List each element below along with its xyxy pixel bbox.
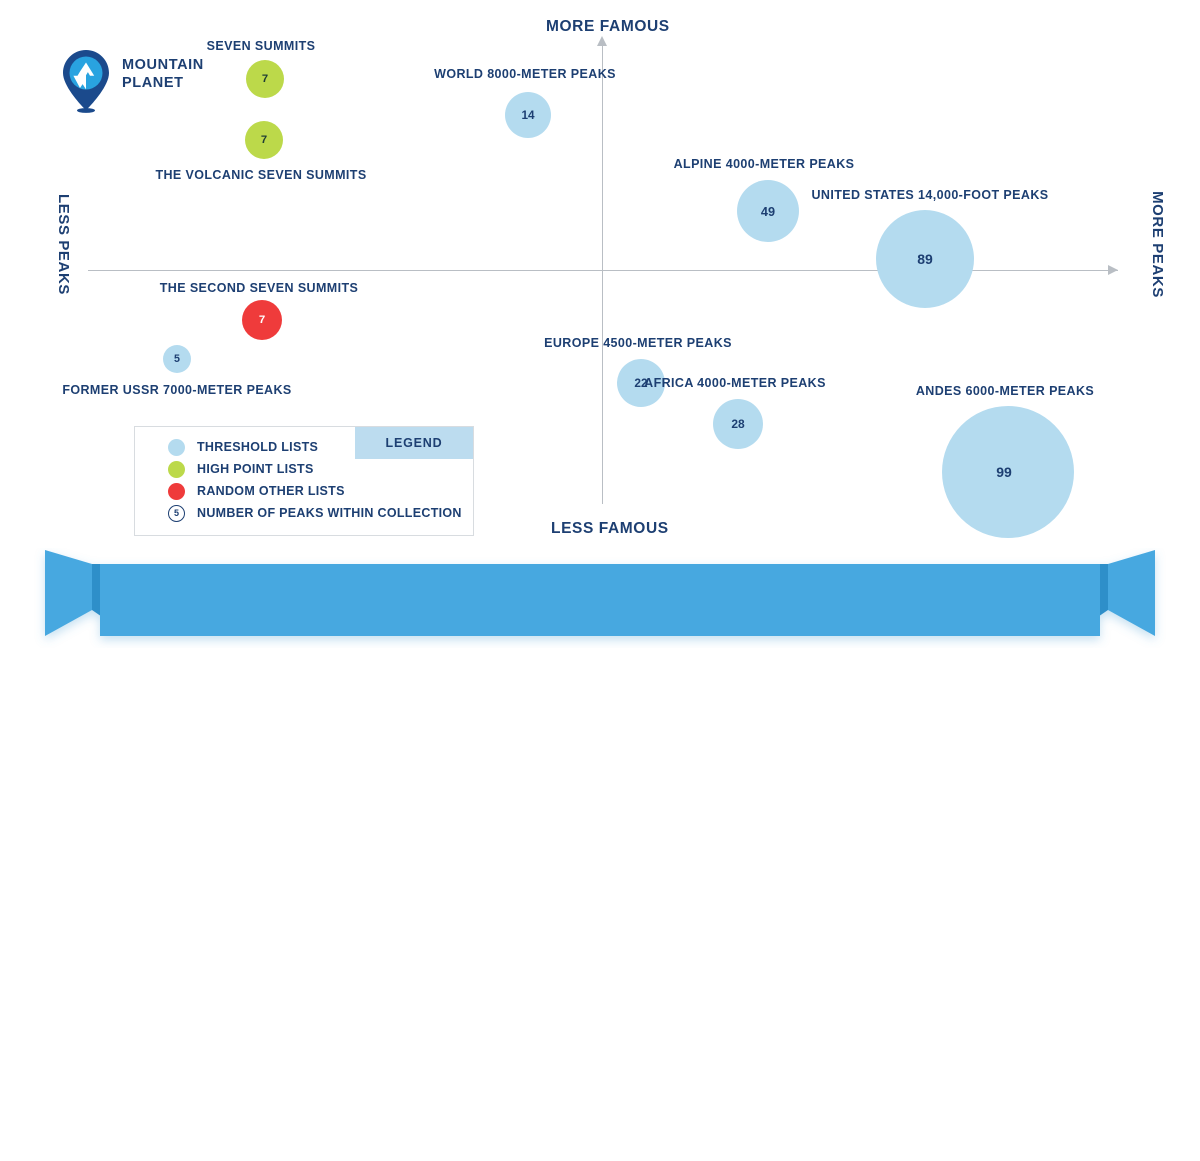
bubble-value: 7 — [259, 314, 265, 326]
bubble-value: 7 — [261, 134, 267, 146]
bubble-world-8000-meter-peaks: 14 — [505, 92, 551, 138]
brand-name-line1: MOUNTAIN — [122, 56, 204, 74]
bubble-value: 7 — [262, 73, 268, 85]
axis-label-less-peaks: LESS PEAKS — [55, 194, 72, 295]
legend-color-dot-icon — [168, 439, 185, 456]
map-pin-mountain-icon — [58, 48, 114, 114]
bubble-seven-summits: 7 — [246, 60, 284, 98]
bubble-value: 49 — [761, 204, 775, 219]
bubble-the-second-seven-summits: 7 — [242, 300, 282, 340]
y-axis-line — [602, 44, 603, 504]
banner-title: TOP-10 WORLD’S MOST FAMOUS SUMMIT COLLEC… — [36, 1122, 1164, 1161]
bubble-label-europe-4500-meter-peaks: EUROPE 4500-METER PEAKS — [544, 336, 732, 350]
bubble-value: 14 — [521, 109, 534, 122]
bubble-label-the-second-seven-summits: THE SECOND SEVEN SUMMITS — [160, 281, 359, 295]
axis-label-more-famous: MORE FAMOUS — [546, 18, 670, 36]
axis-label-more-peaks: MORE PEAKS — [1149, 191, 1166, 298]
legend-color-dot-icon — [168, 461, 185, 478]
brand-name: MOUNTAIN PLANET — [122, 56, 204, 92]
bubble-label-seven-summits: SEVEN SUMMITS — [207, 39, 316, 53]
legend-item-label: THRESHOLD LISTS — [197, 440, 318, 454]
peak-count-ring-icon: 5 — [168, 505, 185, 522]
bubble-label-andes-6000-meter-peaks: ANDES 6000-METER PEAKS — [916, 384, 1094, 398]
bubble-value: 5 — [174, 353, 180, 365]
bubble-label-alpine-4000-meter-peaks: ALPINE 4000-METER PEAKS — [674, 157, 855, 171]
legend-item: RANDOM OTHER LISTS — [168, 480, 462, 502]
brand-name-line2: PLANET — [122, 74, 204, 92]
bubble-label-the-volcanic-seven-summits: THE VOLCANIC SEVEN SUMMITS — [155, 168, 366, 182]
bubble-label-united-states-14-000-foot-peaks: UNITED STATES 14,000-FOOT PEAKS — [812, 188, 1049, 202]
legend-items: THRESHOLD LISTSHIGH POINT LISTSRANDOM OT… — [168, 436, 462, 524]
bubble-africa-4000-meter-peaks: 28 — [713, 399, 763, 449]
legend-color-dot-icon — [168, 483, 185, 500]
bubble-andes-6000-meter-peaks: 99 — [942, 406, 1074, 538]
legend-item-label: RANDOM OTHER LISTS — [197, 484, 345, 498]
bubble-the-volcanic-seven-summits: 7 — [245, 121, 283, 159]
bubble-label-former-ussr-7000-meter-peaks: FORMER USSR 7000-METER PEAKS — [62, 383, 291, 397]
axis-label-less-famous: LESS FAMOUS — [551, 520, 669, 538]
legend-item: HIGH POINT LISTS — [168, 458, 462, 480]
bubble-label-africa-4000-meter-peaks: AFRICA 4000-METER PEAKS — [644, 376, 826, 390]
legend-item: THRESHOLD LISTS — [168, 436, 462, 458]
bubble-value: 99 — [996, 464, 1012, 480]
bubble-label-world-8000-meter-peaks: WORLD 8000-METER PEAKS — [434, 67, 616, 81]
bubble-value: 28 — [731, 417, 744, 431]
x-axis-arrow-icon — [1108, 265, 1118, 275]
infographic-canvas: MOUNTAIN PLANET MORE FAMOUS LESS FAMOUS … — [0, 0, 1200, 674]
bubble-united-states-14-000-foot-peaks: 89 — [876, 210, 974, 308]
title-banner: TOP-10 WORLD’S MOST FAMOUS SUMMIT COLLEC… — [0, 548, 1200, 648]
legend-item-label: HIGH POINT LISTS — [197, 462, 314, 476]
legend-item-label: NUMBER OF PEAKS WITHIN COLLECTION — [197, 506, 462, 520]
y-axis-arrow-icon — [597, 36, 607, 46]
bubble-value: 89 — [917, 251, 933, 267]
legend-item: 5NUMBER OF PEAKS WITHIN COLLECTION — [168, 502, 462, 524]
bubble-alpine-4000-meter-peaks: 49 — [737, 180, 799, 242]
bubble-former-ussr-7000-meter-peaks: 5 — [163, 345, 191, 373]
brand-logo: MOUNTAIN PLANET — [58, 48, 258, 116]
